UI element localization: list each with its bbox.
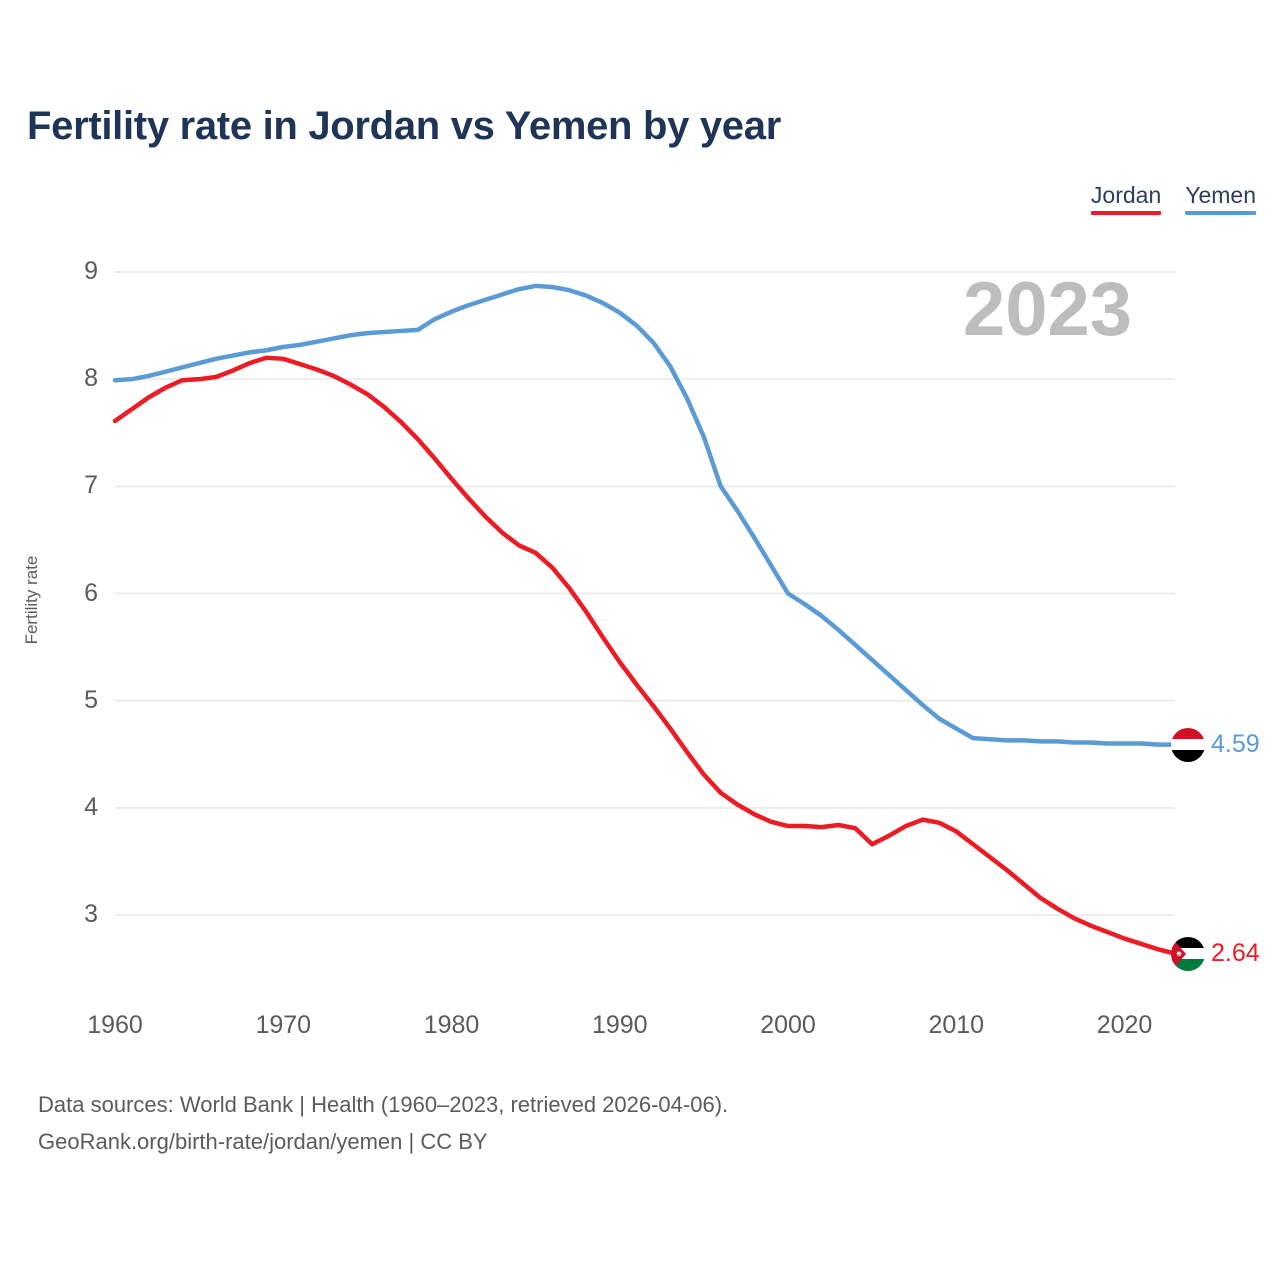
series-lines	[115, 286, 1175, 954]
x-tick-label: 2000	[760, 1013, 816, 1038]
series-line-jordan	[115, 358, 1175, 954]
y-tick-label: 7	[58, 473, 98, 498]
series-line-yemen	[115, 286, 1175, 745]
end-label-yemen: 4.59	[1171, 728, 1260, 762]
gridlines	[115, 272, 1175, 915]
end-value-jordan: 2.64	[1211, 941, 1260, 966]
x-tick-label: 1990	[592, 1013, 648, 1038]
footer-line-1: Data sources: World Bank | Health (1960–…	[38, 1086, 728, 1123]
y-tick-label: 3	[58, 902, 98, 927]
chart-page: Fertility rate in Jordan vs Yemen by yea…	[0, 0, 1280, 1280]
x-tick-label: 2020	[1097, 1013, 1153, 1038]
end-label-jordan: ✷ 2.64	[1171, 937, 1260, 971]
x-tick-label: 1960	[87, 1013, 143, 1038]
footer-sources: Data sources: World Bank | Health (1960–…	[38, 1086, 728, 1160]
y-tick-label: 9	[58, 259, 98, 284]
y-axis-title: Fertility rate	[22, 540, 42, 660]
y-tick-label: 8	[58, 366, 98, 391]
jordan-flag-icon: ✷	[1171, 937, 1205, 971]
x-tick-label: 1980	[424, 1013, 480, 1038]
y-tick-label: 6	[58, 581, 98, 606]
jordan-flag-star: ✷	[1175, 950, 1183, 958]
yemen-flag-icon	[1171, 728, 1205, 762]
end-value-yemen: 4.59	[1211, 732, 1260, 757]
y-tick-label: 4	[58, 795, 98, 820]
footer-line-2: GeoRank.org/birth-rate/jordan/yemen | CC…	[38, 1123, 728, 1160]
y-tick-label: 5	[58, 688, 98, 713]
x-tick-label: 2010	[928, 1013, 984, 1038]
x-tick-label: 1970	[255, 1013, 311, 1038]
